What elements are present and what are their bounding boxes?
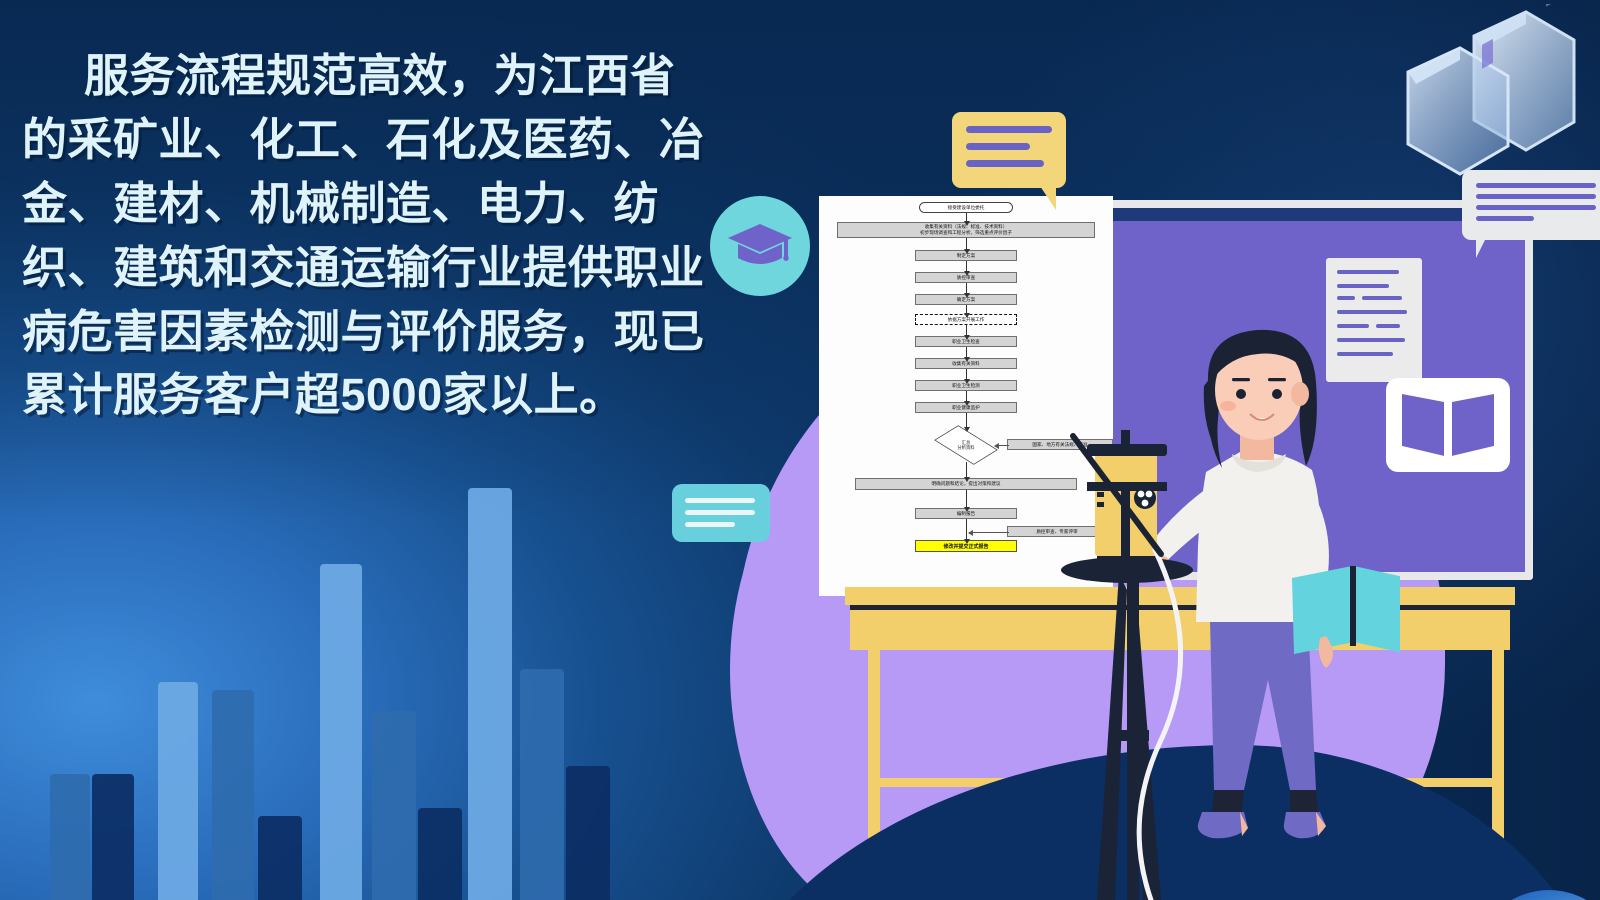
flowchart-node-n1: 接受建设单位委托 [919, 202, 1013, 213]
bubble-tail [1476, 238, 1498, 258]
headline-line-1: 服务流程规范高效，为江西省 [84, 50, 676, 101]
open-book-icon [1382, 372, 1514, 476]
page-title: 服务流程规范高效，为江西省 的采矿业、化工、石化及医药、冶 金、建材、机械制造、… [22, 44, 782, 427]
flowchart-arrow [966, 238, 967, 250]
bubble-tail [1030, 186, 1056, 210]
speech-bubble-icon-yellow [952, 112, 1066, 188]
flowchart-arrow [966, 369, 967, 380]
bar-chart-bar [566, 766, 610, 900]
flowchart-arrow [966, 305, 967, 314]
flowchart-arrow [966, 213, 967, 222]
bar-chart-bar [520, 669, 564, 900]
bar-chart-bar [158, 682, 198, 900]
headline-line-2: 的采矿业、化工、石化及医药、冶 [22, 114, 705, 165]
presenter-illustration: 接受建设单位委托收集有关资料（法规、标准、技术资料）初步现场调查和工程分析，筛选… [735, 150, 1600, 900]
headline-line-3: 金、建材、机械制造、电力、纺 [22, 178, 659, 229]
bar-chart-bar [372, 711, 416, 900]
bar-chart-bar [258, 816, 302, 900]
bar-chart-bar [212, 690, 254, 900]
flowchart-arrow [966, 325, 967, 336]
flowchart-arrow [966, 391, 967, 402]
flowchart-node-n11: 汇总分析资料 [938, 428, 994, 462]
flowchart-arrow [966, 347, 967, 358]
flowchart-arrow-side [995, 445, 1009, 446]
flowchart-arrow-side [969, 532, 1009, 533]
headline-line-5: 病危害因素检测与评价服务，现已 [22, 306, 705, 357]
flowchart-arrow [966, 261, 967, 272]
flowchart-arrow [966, 283, 967, 294]
bar-chart-bar [468, 488, 512, 900]
bar-chart-bar [320, 564, 362, 900]
speech-bubble-icon-teal [672, 484, 770, 542]
flowchart-arrow [966, 490, 967, 508]
bar-chart-bar [50, 774, 90, 900]
books-icon [1378, 4, 1598, 179]
bar-chart-bar [92, 774, 134, 900]
bar-chart-bar [418, 808, 462, 900]
flowchart-arrow [966, 413, 967, 428]
headline-line-6: 累计服务客户超5000家以上。 [22, 369, 625, 420]
speech-bubble-icon-grey [1462, 170, 1600, 240]
flowchart-arrow [966, 462, 967, 478]
poster-canvas: 服务流程规范高效，为江西省 的采矿业、化工、石化及医药、冶 金、建材、机械制造、… [0, 0, 1600, 900]
pointer-stick [1065, 428, 1215, 578]
decorative-bar-chart [0, 480, 720, 900]
headline-line-4: 织、建筑和交通运输行业提供职业 [22, 242, 705, 293]
document-icon [1326, 258, 1422, 382]
flowchart-arrow [966, 519, 967, 540]
